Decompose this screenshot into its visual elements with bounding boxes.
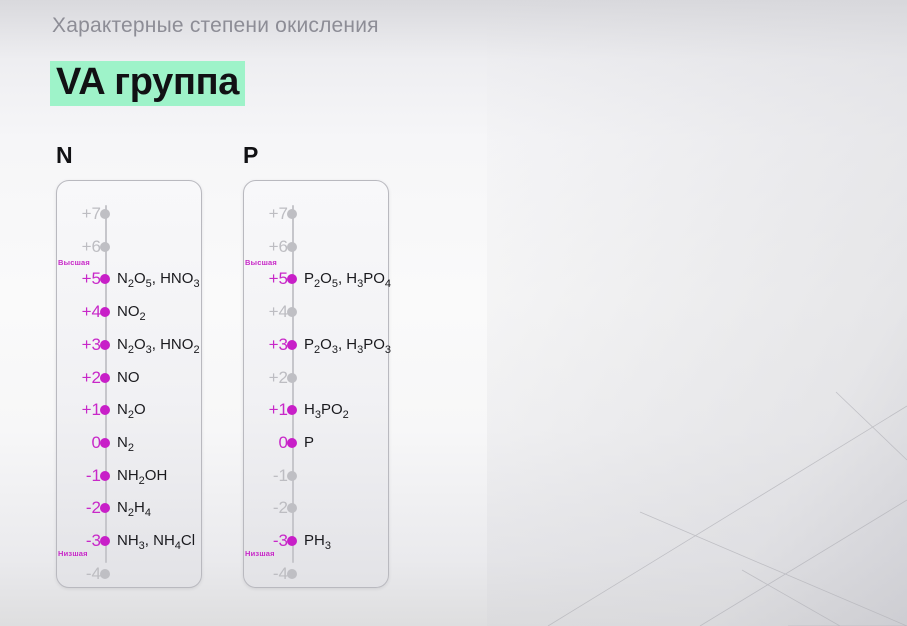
oxidation-row[interactable]: +2 — [244, 368, 504, 388]
oxidation-state-value: 0 — [244, 433, 288, 453]
compound-formula: P2O5, H3PO4 — [304, 269, 391, 289]
oxidation-state-value: 0 — [57, 433, 101, 453]
state-dot-inactive[interactable] — [287, 209, 297, 219]
oxidation-row[interactable]: +1H3PO2 — [244, 400, 504, 420]
oxidation-state-value: +1 — [244, 400, 288, 420]
page-title: VA группа — [50, 61, 245, 106]
compound-formula: NH3, NH4Cl — [117, 531, 195, 551]
state-dot-active[interactable] — [287, 536, 297, 546]
state-dot-active[interactable] — [100, 405, 110, 415]
slide-canvas: Характерные степени окисления VA группа … — [0, 0, 907, 626]
compound-formula: P2O3, H3PO3 — [304, 335, 391, 355]
lowest-state-tag: Низшая — [58, 549, 88, 558]
oxidation-state-value: +1 — [57, 400, 101, 420]
oxidation-card-n: +7+6+5N2O5, HNO3Высшая+4NO2+3N2O3, HNO2+… — [56, 180, 202, 588]
state-dot-inactive[interactable] — [287, 471, 297, 481]
oxidation-row[interactable]: +4 — [244, 302, 504, 322]
state-dot-active[interactable] — [100, 307, 110, 317]
oxidation-state-value: +6 — [57, 237, 101, 257]
state-dot-active[interactable] — [287, 405, 297, 415]
highest-state-tag: Высшая — [58, 258, 90, 267]
oxidation-state-value: +3 — [244, 335, 288, 355]
oxidation-state-value: +7 — [57, 204, 101, 224]
oxidation-card-p: +7+6+5P2O5, H3PO4Высшая+4+3P2O3, H3PO3+2… — [243, 180, 389, 588]
compound-formula: N2 — [117, 433, 134, 453]
compound-formula: N2O — [117, 400, 146, 420]
oxidation-row[interactable]: -1 — [244, 466, 504, 486]
oxidation-state-value: -4 — [244, 564, 288, 584]
oxidation-row[interactable]: +3P2O3, H3PO3 — [244, 335, 504, 355]
state-dot-inactive[interactable] — [287, 307, 297, 317]
element-symbol-p: P — [243, 142, 259, 169]
highest-state-tag: Высшая — [245, 258, 277, 267]
oxidation-row[interactable]: -3PH3Низшая — [244, 531, 504, 551]
oxidation-row[interactable]: +5P2O5, H3PO4Высшая — [244, 269, 504, 289]
element-symbol-n: N — [56, 142, 73, 169]
state-dot-inactive[interactable] — [100, 242, 110, 252]
slide-subtitle: Характерные степени окисления — [52, 14, 379, 38]
compound-formula: NO — [117, 368, 140, 388]
oxidation-row[interactable]: -2 — [244, 498, 504, 518]
compound-formula: N2O3, HNO2 — [117, 335, 200, 355]
state-dot-inactive[interactable] — [287, 373, 297, 383]
oxidation-state-value: -3 — [57, 531, 101, 551]
oxidation-row[interactable]: +7 — [244, 204, 504, 224]
oxidation-state-value: -1 — [57, 466, 101, 486]
oxidation-state-value: -1 — [244, 466, 288, 486]
oxidation-row[interactable]: -4 — [244, 564, 504, 584]
oxidation-row[interactable]: 0P — [244, 433, 504, 453]
state-dot-active[interactable] — [100, 471, 110, 481]
slide-title-container: VA группа — [50, 61, 245, 106]
state-dot-active[interactable] — [287, 340, 297, 350]
state-dot-active[interactable] — [100, 373, 110, 383]
oxidation-row[interactable]: +6 — [244, 237, 504, 257]
compound-formula: N2H4 — [117, 498, 151, 518]
lowest-state-tag: Низшая — [245, 549, 275, 558]
oxidation-state-value: +2 — [244, 368, 288, 388]
state-dot-active[interactable] — [100, 274, 110, 284]
state-dot-active[interactable] — [100, 536, 110, 546]
state-dot-inactive[interactable] — [100, 569, 110, 579]
oxidation-state-value: -2 — [244, 498, 288, 518]
oxidation-state-value: +5 — [244, 269, 288, 289]
oxidation-state-value: +6 — [244, 237, 288, 257]
oxidation-state-value: +2 — [57, 368, 101, 388]
state-dot-active[interactable] — [100, 340, 110, 350]
oxidation-state-value: -2 — [57, 498, 101, 518]
state-dot-inactive[interactable] — [287, 503, 297, 513]
compound-formula: NO2 — [117, 302, 146, 322]
oxidation-state-value: +4 — [244, 302, 288, 322]
compound-formula: PH3 — [304, 531, 331, 551]
compound-formula: N2O5, HNO3 — [117, 269, 200, 289]
oxidation-state-value: +4 — [57, 302, 101, 322]
state-dot-active[interactable] — [287, 438, 297, 448]
state-dot-active[interactable] — [287, 274, 297, 284]
oxidation-state-value: -4 — [57, 564, 101, 584]
oxidation-state-value: -3 — [244, 531, 288, 551]
compound-formula: H3PO2 — [304, 400, 349, 420]
state-dot-inactive[interactable] — [100, 209, 110, 219]
compound-formula: NH2OH — [117, 466, 167, 486]
oxidation-state-value: +5 — [57, 269, 101, 289]
state-dot-active[interactable] — [100, 503, 110, 513]
oxidation-state-value: +7 — [244, 204, 288, 224]
background-wash — [487, 0, 907, 626]
state-dot-inactive[interactable] — [287, 242, 297, 252]
compound-formula: P — [304, 433, 314, 453]
oxidation-state-value: +3 — [57, 335, 101, 355]
state-dot-inactive[interactable] — [287, 569, 297, 579]
state-dot-active[interactable] — [100, 438, 110, 448]
